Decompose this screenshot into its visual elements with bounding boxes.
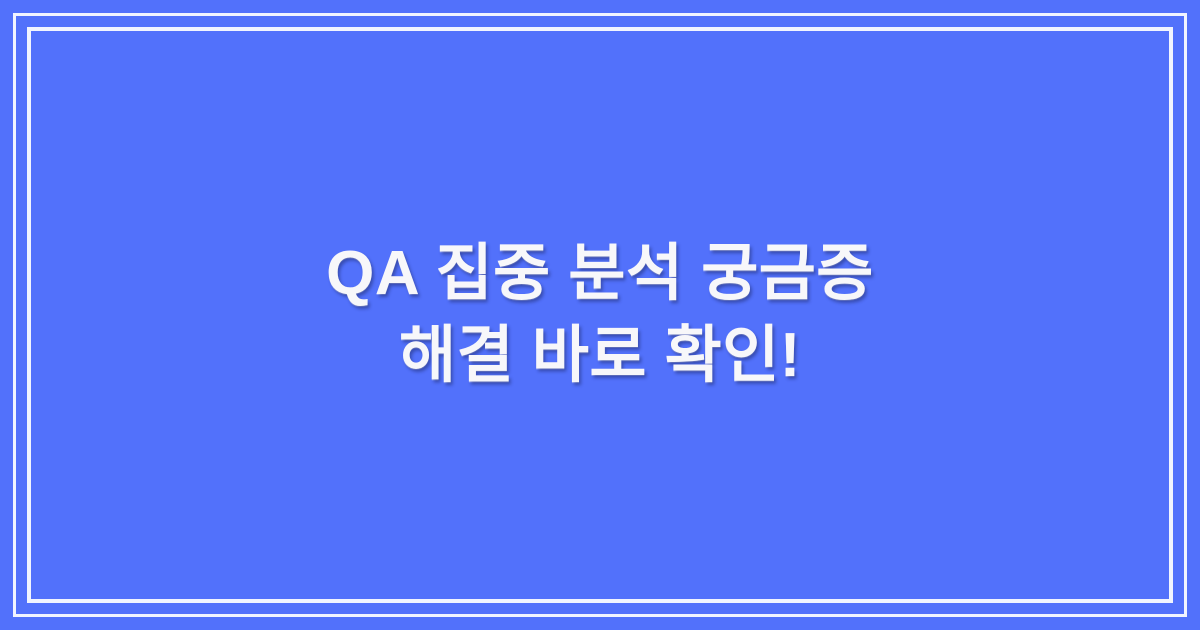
headline-block: QA 집중 분석 궁금증 해결 바로 확인! bbox=[130, 233, 1070, 397]
headline-line-2: 해결 바로 확인! bbox=[150, 315, 1050, 397]
page-title: QA 집중 분석 궁금증 해결 바로 확인! bbox=[150, 233, 1050, 397]
headline-line-1: QA 집중 분석 궁금증 bbox=[150, 233, 1050, 315]
thumbnail-card: QA 집중 분석 궁금증 해결 바로 확인! bbox=[0, 0, 1200, 630]
